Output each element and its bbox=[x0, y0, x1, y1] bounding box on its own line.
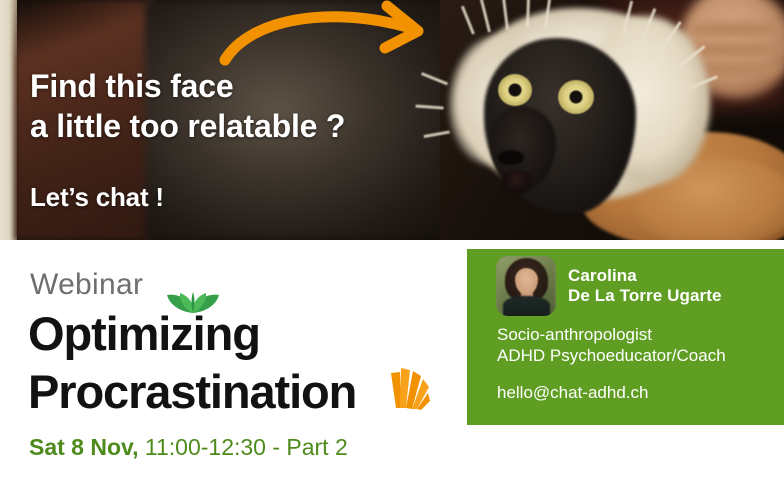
curved-arrow-icon bbox=[215, 2, 445, 74]
lemur-pupil-left bbox=[509, 84, 522, 97]
webinar-poster: Find this face a little too relatable ? … bbox=[0, 0, 784, 479]
lemur-fur-wisp bbox=[502, 0, 509, 30]
event-type-label: Webinar bbox=[30, 268, 143, 302]
avatar-body bbox=[503, 296, 550, 316]
event-datetime: Sat 8 Nov, 11:00-12:30 - Part 2 bbox=[29, 434, 348, 461]
hero-headline: Find this face a little too relatable ? bbox=[30, 66, 345, 147]
leaf-sprout-icon bbox=[166, 292, 220, 314]
speaker-role-line2: ADHD Psychoeducator/Coach bbox=[497, 346, 726, 366]
hero-photo-banner: Find this face a little too relatable ? … bbox=[0, 0, 784, 240]
hero-headline-line1: Find this face bbox=[30, 66, 345, 106]
speaker-card: Carolina De La Torre Ugarte Socio-anthro… bbox=[467, 249, 784, 425]
event-title-line2: Procrastination bbox=[28, 364, 356, 419]
speaker-last-name: De La Torre Ugarte bbox=[568, 286, 722, 306]
lemur-pupil-right bbox=[570, 91, 583, 104]
lemur-fur-wisp bbox=[480, 0, 491, 32]
lemur-eye-left bbox=[498, 74, 532, 106]
lemur-fur-wisp bbox=[461, 6, 475, 35]
hero-headline-line2: a little too relatable ? bbox=[30, 106, 345, 146]
lemur-photo bbox=[432, 2, 784, 240]
event-title-line1: Optimizing bbox=[28, 306, 260, 361]
event-date: Sat 8 Nov, bbox=[29, 434, 139, 460]
speaker-first-name: Carolina bbox=[568, 266, 637, 286]
orange-burst-icon bbox=[388, 364, 430, 410]
lemur-eye-right bbox=[558, 80, 594, 114]
lemur-nose bbox=[498, 150, 524, 165]
speaker-email[interactable]: hello@chat-adhd.ch bbox=[497, 383, 648, 403]
event-time-part: 11:00-12:30 - Part 2 bbox=[139, 434, 348, 460]
hero-subline: Let’s chat ! bbox=[30, 182, 164, 213]
avatar bbox=[496, 256, 556, 316]
speaker-role-line1: Socio-anthropologist bbox=[497, 325, 652, 345]
